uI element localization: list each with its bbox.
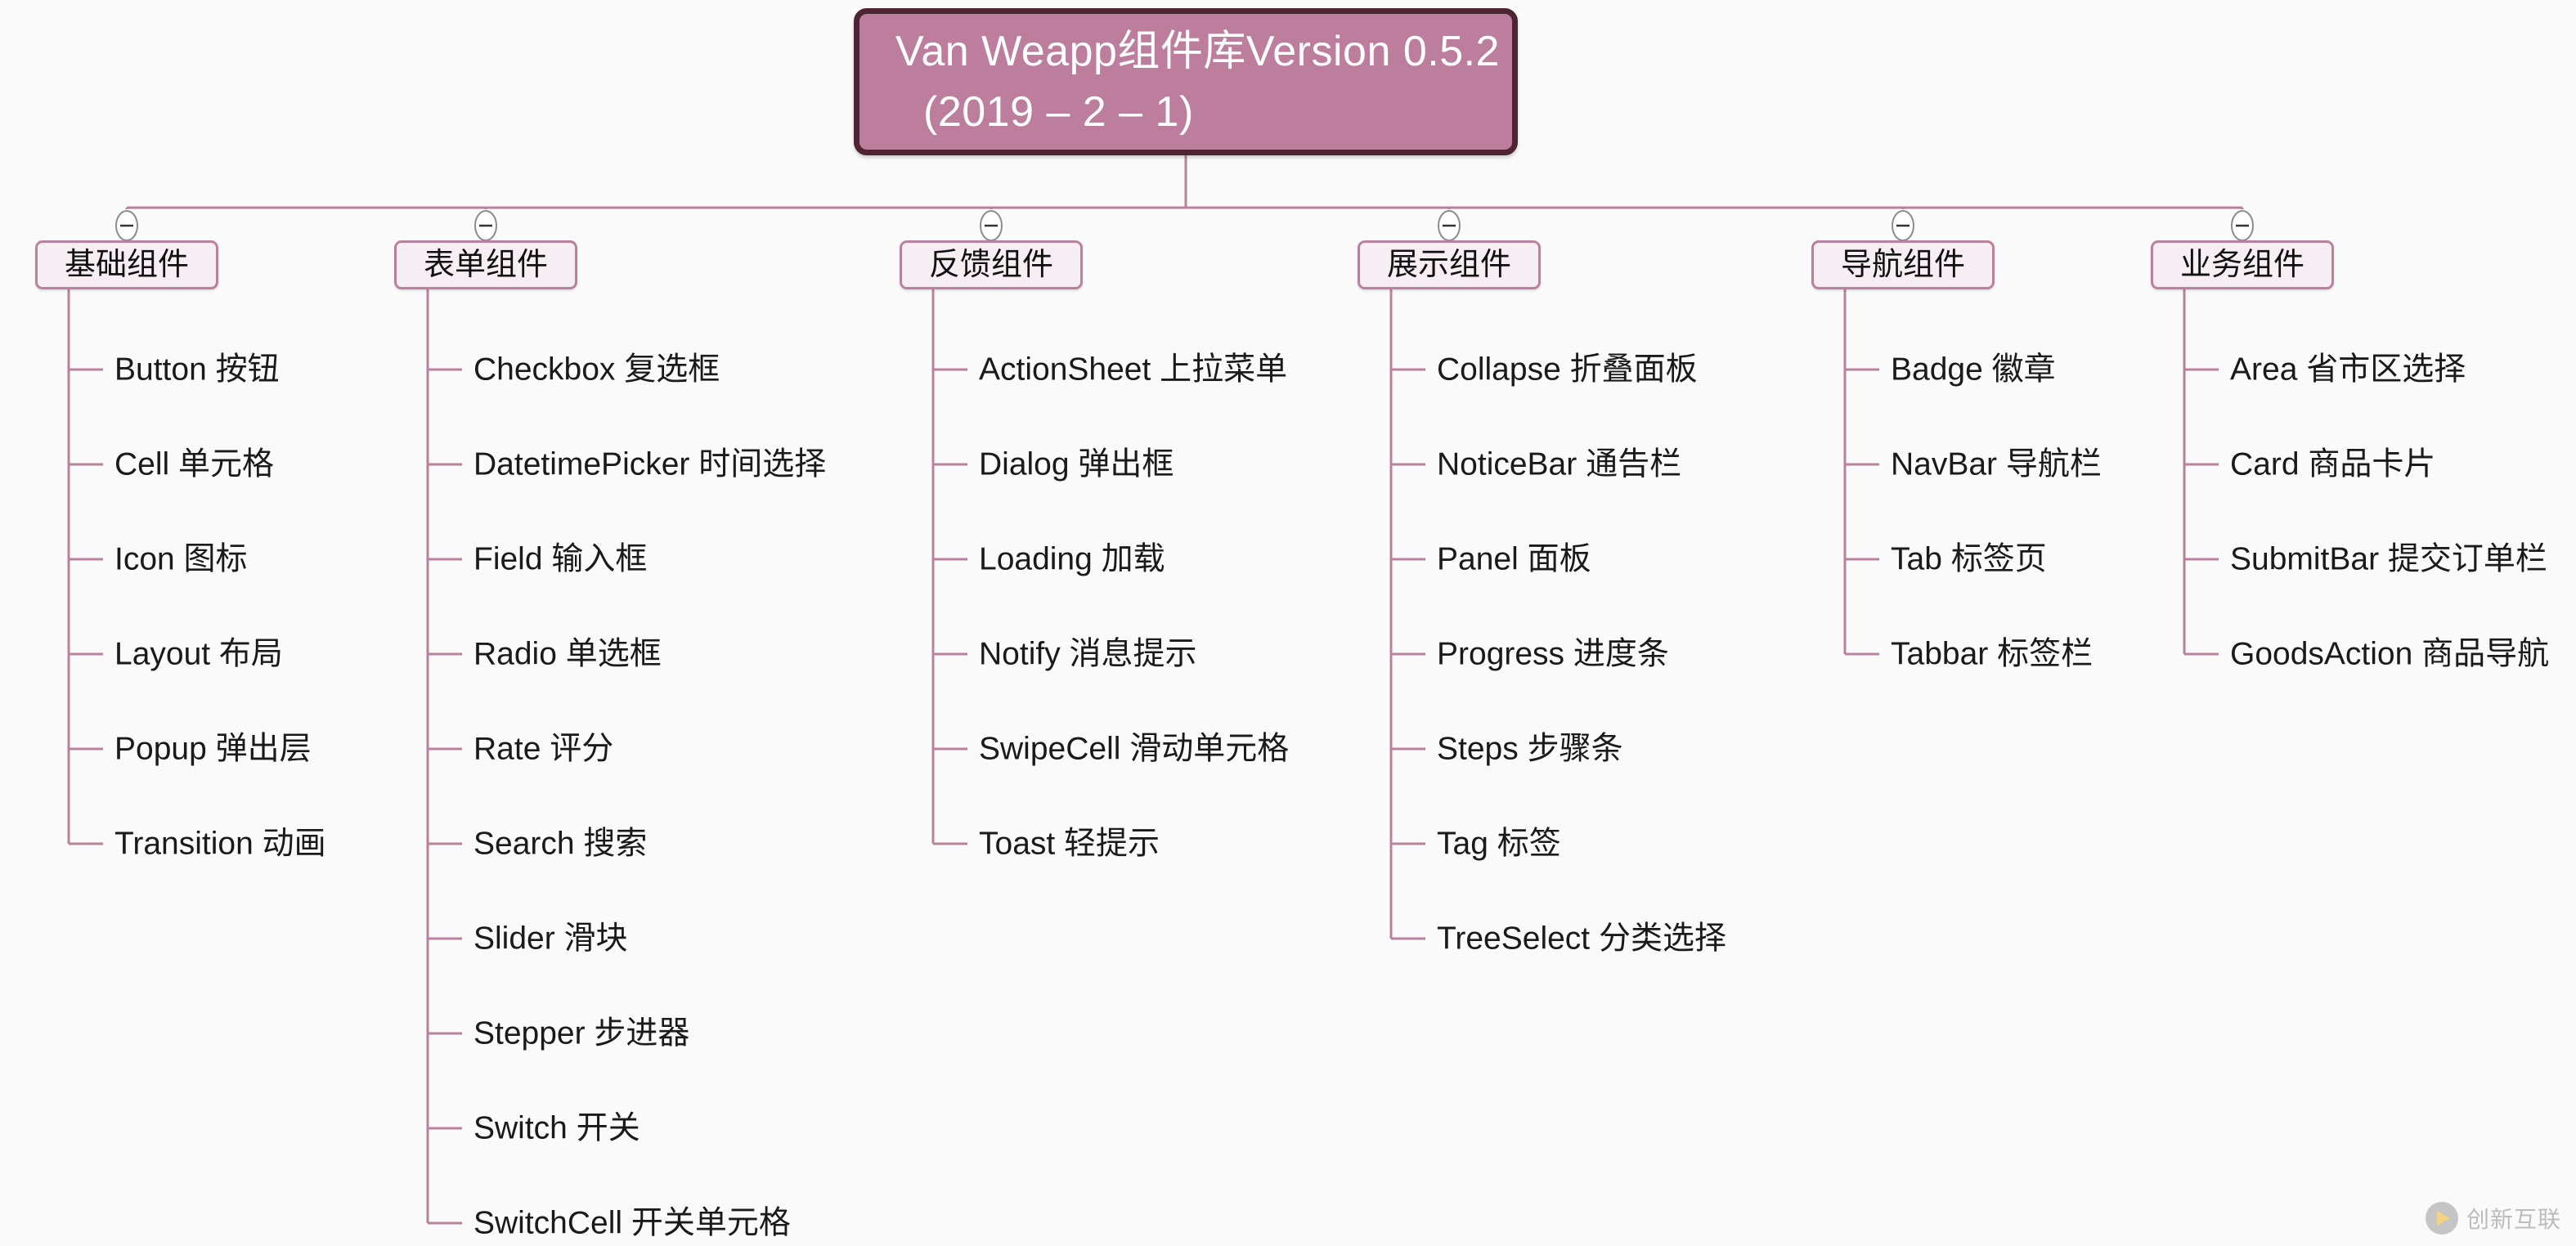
leaf-item[interactable]: Stepper 步进器	[473, 1018, 689, 1050]
leaf-item[interactable]: Switch 开关	[473, 1113, 640, 1145]
leaf-item[interactable]: Steps 步骤条	[1437, 733, 1623, 765]
watermark: 创新互联	[2426, 1202, 2561, 1235]
leaf-item[interactable]: TreeSelect 分类选择	[1437, 923, 1726, 955]
leaf-item[interactable]: NoticeBar 通告栏	[1437, 449, 1681, 481]
connector-lines	[0, 0, 2576, 1246]
minus-icon	[979, 209, 1003, 242]
collapse-toggle-5[interactable]	[1891, 209, 1915, 242]
leaf-item[interactable]: Field 输入框	[473, 544, 647, 576]
leaf-item[interactable]: NavBar 导航栏	[1891, 449, 2102, 481]
leaf-item[interactable]: SubmitBar 提交订单栏	[2230, 544, 2547, 576]
collapse-toggle-1[interactable]	[114, 209, 139, 242]
collapse-toggle-3[interactable]	[979, 209, 1003, 242]
collapse-toggle-6[interactable]	[2230, 209, 2255, 242]
leaf-item[interactable]: Collapse 折叠面板	[1437, 354, 1698, 386]
leaf-item[interactable]: SwitchCell 开关单元格	[473, 1208, 791, 1239]
category-label: 反馈组件	[929, 249, 1053, 280]
category-node-2[interactable]: 表单组件	[394, 240, 577, 289]
leaf-item[interactable]: Layout 布局	[114, 639, 283, 670]
leaf-item[interactable]: Checkbox 复选框	[473, 354, 720, 386]
minus-icon	[473, 209, 498, 242]
leaf-item[interactable]: Card 商品卡片	[2230, 449, 2435, 481]
leaf-item[interactable]: Dialog 弹出框	[979, 449, 1174, 481]
category-label: 业务组件	[2180, 249, 2304, 280]
leaf-item[interactable]: DatetimePicker 时间选择	[473, 449, 826, 481]
category-node-6[interactable]: 业务组件	[2151, 240, 2334, 289]
category-node-4[interactable]: 展示组件	[1358, 240, 1541, 289]
leaf-item[interactable]: Slider 滑块	[473, 923, 628, 955]
leaf-item[interactable]: Button 按钮	[114, 354, 280, 386]
leaf-item[interactable]: Cell 单元格	[114, 449, 274, 481]
root-title-line-1: Van Weapp组件库Version 0.5.2	[895, 21, 1500, 82]
leaf-item[interactable]: Toast 轻提示	[979, 828, 1160, 860]
root-node[interactable]: Van Weapp组件库Version 0.5.2 (2019 – 2 – 1)	[854, 8, 1518, 155]
leaf-item[interactable]: Icon 图标	[114, 544, 248, 576]
leaf-item[interactable]: Panel 面板	[1437, 544, 1591, 576]
category-label: 导航组件	[1841, 249, 1965, 280]
category-label: 基础组件	[65, 249, 189, 280]
leaf-item[interactable]: Radio 单选框	[473, 639, 662, 670]
leaf-item[interactable]: Loading 加载	[979, 544, 1165, 576]
mindmap-canvas: Van Weapp组件库Version 0.5.2 (2019 – 2 – 1)…	[0, 0, 2576, 1246]
leaf-item[interactable]: Tab 标签页	[1891, 544, 2047, 576]
root-title-line-2: (2019 – 2 – 1)	[895, 82, 1194, 142]
collapse-toggle-2[interactable]	[473, 209, 498, 242]
watermark-label: 创新互联	[2466, 1202, 2561, 1235]
leaf-item[interactable]: Rate 评分	[473, 733, 613, 765]
minus-icon	[1437, 209, 1461, 242]
leaf-item[interactable]: ActionSheet 上拉菜单	[979, 354, 1287, 386]
leaf-item[interactable]: Tabbar 标签栏	[1891, 639, 2093, 670]
category-node-3[interactable]: 反馈组件	[900, 240, 1083, 289]
leaf-item[interactable]: GoodsAction 商品导航	[2230, 639, 2549, 670]
leaf-item[interactable]: SwipeCell 滑动单元格	[979, 733, 1289, 765]
collapse-toggle-4[interactable]	[1437, 209, 1461, 242]
leaf-item[interactable]: Progress 进度条	[1437, 639, 1669, 670]
category-node-1[interactable]: 基础组件	[35, 240, 218, 289]
category-label: 表单组件	[424, 249, 548, 280]
minus-icon	[1891, 209, 1915, 242]
leaf-item[interactable]: Area 省市区选择	[2230, 354, 2466, 386]
leaf-item[interactable]: Tag 标签	[1437, 828, 1561, 860]
category-node-5[interactable]: 导航组件	[1811, 240, 1995, 289]
leaf-item[interactable]: Badge 徽章	[1891, 354, 2056, 386]
leaf-item[interactable]: Transition 动画	[114, 828, 326, 860]
minus-icon	[2230, 209, 2255, 242]
minus-icon	[114, 209, 139, 242]
leaf-item[interactable]: Search 搜索	[473, 828, 647, 860]
leaf-item[interactable]: Popup 弹出层	[114, 733, 312, 765]
watermark-logo-icon	[2426, 1202, 2458, 1235]
leaf-item[interactable]: Notify 消息提示	[979, 639, 1197, 670]
category-label: 展示组件	[1387, 249, 1511, 280]
